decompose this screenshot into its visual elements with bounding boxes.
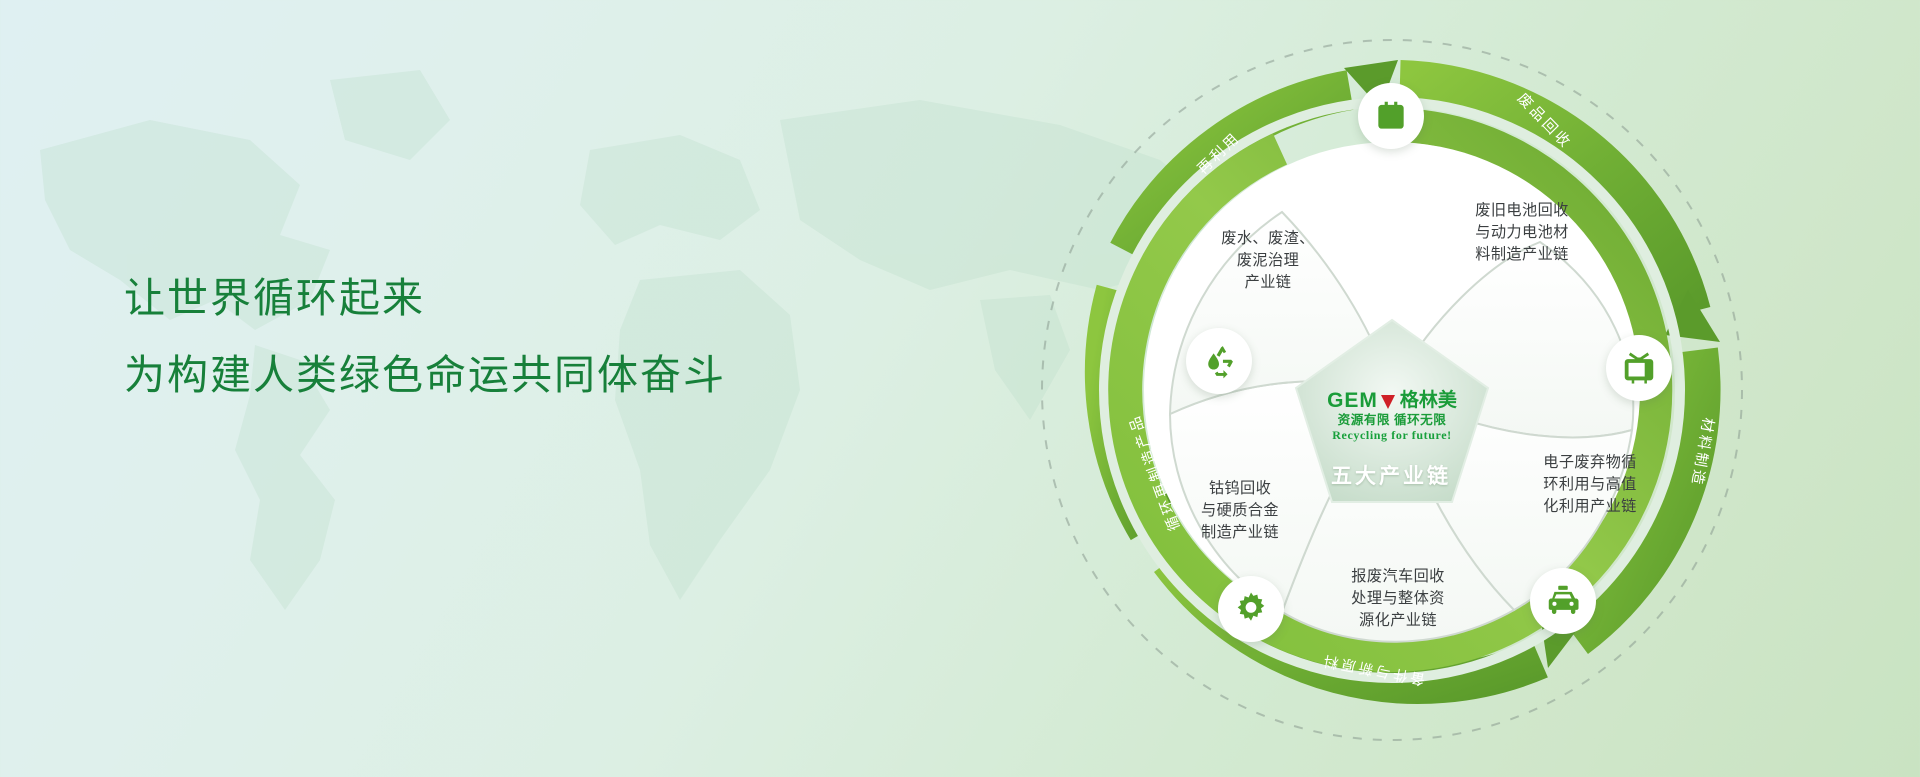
banner-headline: 让世界循环起来 为构建人类绿色命运共同体奋斗 (124, 268, 884, 405)
logo-triangle-icon (1381, 395, 1395, 409)
television-icon (1620, 349, 1658, 387)
gear-icon (1232, 590, 1270, 628)
petal-label-wastewater-chain: 废水、废渣、 废泥治理 产业链 (1168, 228, 1368, 294)
petal-label-vehicle-chain: 报废汽车回收 处理与整体资 源化产业链 (1298, 566, 1498, 632)
gear-icon-bubble[interactable] (1218, 576, 1284, 642)
recycle-water-icon-bubble[interactable] (1186, 328, 1252, 394)
circular-ring-graphic (1020, 0, 1920, 777)
center-title: 五大产业链 (1296, 460, 1486, 490)
recycle-water-icon (1200, 342, 1238, 380)
taxi-car-icon-bubble[interactable] (1530, 568, 1596, 634)
logo-slogan-chinese: 资源有限 循环无限 (1312, 414, 1472, 427)
logo-wordmark: GEM (1327, 390, 1378, 411)
headline-line-2: 为构建人类绿色命运共同体奋斗 (124, 345, 884, 405)
battery-icon-bubble[interactable] (1358, 83, 1424, 149)
television-icon-bubble[interactable] (1606, 335, 1672, 401)
logo-name-chinese: 格林美 (1400, 391, 1457, 410)
petal-label-battery-chain: 废旧电池回收 与动力电池材 料制造产业链 (1422, 200, 1622, 266)
logo-slogan-english: Recycling for future! (1312, 429, 1472, 441)
gem-logo: GEM 格林美 资源有限 循环无限 Recycling for future! (1312, 390, 1472, 441)
five-industry-chains-diagram: 废旧电池回收 与动力电池材 料制造产业链 电子废弃物循 环利用与高值 化利用产业… (1020, 0, 1920, 777)
battery-icon (1372, 97, 1410, 135)
taxi-car-icon (1544, 582, 1582, 620)
headline-line-1: 让世界循环起来 (124, 268, 884, 328)
petal-label-ewaste-chain: 电子废弃物循 环利用与高值 化利用产业链 (1490, 452, 1690, 518)
